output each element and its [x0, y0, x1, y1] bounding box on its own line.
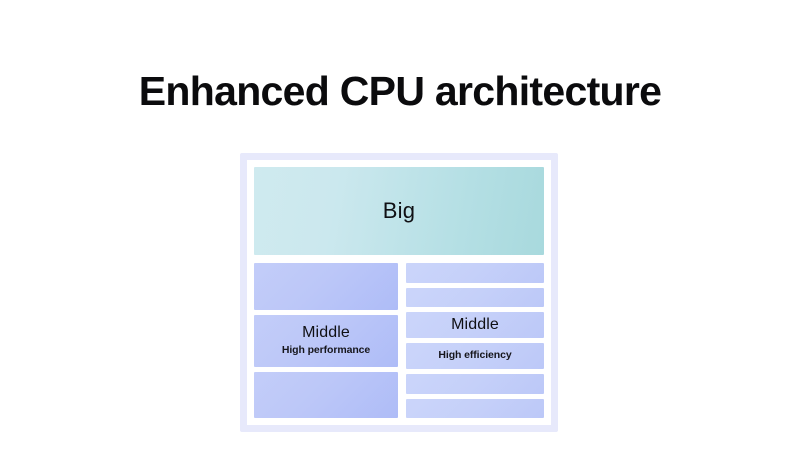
performance-cluster-title: Middle [302, 324, 350, 342]
efficiency-core-block [406, 399, 544, 419]
efficiency-cluster-title: Middle [451, 316, 499, 334]
efficiency-core-block [406, 288, 544, 308]
cpu-diagram-inner: Big Middle High performance Middle High … [247, 160, 551, 425]
efficiency-core-block [406, 374, 544, 394]
big-core-label: Big [383, 198, 415, 224]
performance-core-block [254, 263, 398, 310]
performance-core-cluster: Middle High performance [254, 263, 398, 418]
efficiency-cluster-title-block: Middle [406, 312, 544, 338]
cpu-diagram-frame: Big Middle High performance Middle High … [240, 153, 558, 432]
performance-cluster-subtitle: High performance [282, 345, 370, 357]
performance-core-label-block: Middle High performance [254, 315, 398, 367]
efficiency-cluster-subtitle: High efficiency [438, 350, 511, 362]
page-title: Enhanced CPU architecture [0, 68, 800, 115]
efficiency-core-block [406, 263, 544, 283]
core-cluster-row: Middle High performance Middle High effi… [254, 263, 544, 418]
big-core-block: Big [254, 167, 544, 255]
efficiency-core-cluster: Middle High efficiency [406, 263, 544, 418]
efficiency-cluster-subtitle-block: High efficiency [406, 343, 544, 369]
performance-core-block [254, 372, 398, 419]
